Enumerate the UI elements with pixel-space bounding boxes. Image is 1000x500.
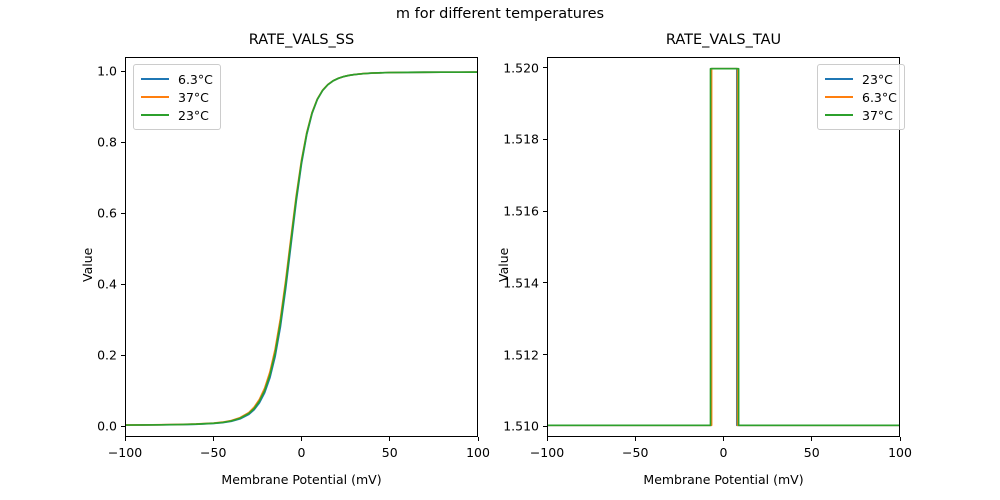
ytick-mark <box>121 142 125 143</box>
legend-entry-6.3°C[interactable]: 6.3°C <box>141 70 213 88</box>
ytick-mark <box>543 426 547 427</box>
legend-line-swatch <box>825 78 853 80</box>
xtick-label: −100 <box>530 445 564 460</box>
xtick-label: −50 <box>200 445 226 460</box>
xtick-mark <box>213 437 214 441</box>
ylabel-right: Value <box>496 248 511 282</box>
legend-label: 37°C <box>862 108 893 123</box>
subplot-title-left: RATE_VALS_SS <box>125 32 478 48</box>
ytick-mark <box>543 139 547 140</box>
xtick-label: 100 <box>888 445 912 460</box>
legend-entry-37°C[interactable]: 37°C <box>825 106 897 124</box>
ytick-label: 1.514 <box>429 275 539 290</box>
ytick-label: 1.516 <box>429 204 539 219</box>
ytick-mark <box>543 354 547 355</box>
ytick-label: 0.4 <box>7 277 117 292</box>
subplot-title-right: RATE_VALS_TAU <box>547 32 900 48</box>
xtick-mark <box>635 437 636 441</box>
legend-entry-37°C[interactable]: 37°C <box>141 88 213 106</box>
figure-suptitle: m for different temperatures <box>0 6 1000 22</box>
legend-line-swatch <box>825 114 853 116</box>
legend-label: 23°C <box>178 108 209 123</box>
legend-label: 37°C <box>178 90 209 105</box>
ytick-label: 1.0 <box>7 64 117 79</box>
ylabel-left: Value <box>80 248 95 282</box>
xtick-label: −50 <box>622 445 648 460</box>
ytick-mark <box>121 71 125 72</box>
xtick-mark <box>301 437 302 441</box>
legend-label: 23°C <box>862 72 893 87</box>
xtick-mark <box>478 437 479 441</box>
ytick-mark <box>121 355 125 356</box>
ytick-mark <box>121 426 125 427</box>
xtick-label: 100 <box>466 445 490 460</box>
ytick-mark <box>543 282 547 283</box>
xtick-label: 0 <box>298 445 306 460</box>
xtick-label: 50 <box>804 445 820 460</box>
ytick-label: 1.518 <box>429 132 539 147</box>
legend-entry-23°C[interactable]: 23°C <box>141 106 213 124</box>
xtick-label: 50 <box>382 445 398 460</box>
ytick-label: 0.8 <box>7 135 117 150</box>
ytick-mark <box>121 284 125 285</box>
ytick-label: 0.2 <box>7 348 117 363</box>
legend-line-swatch <box>141 78 169 80</box>
legend-line-swatch <box>825 96 853 98</box>
ytick-label: 0.6 <box>7 206 117 221</box>
legend-entry-23°C[interactable]: 23°C <box>825 70 897 88</box>
xtick-label: 0 <box>720 445 728 460</box>
legend-label: 6.3°C <box>178 72 213 87</box>
ytick-label: 0.0 <box>7 419 117 434</box>
xtick-mark <box>900 437 901 441</box>
xtick-mark <box>811 437 812 441</box>
legend-rate-vals-tau[interactable]: 23°C6.3°C37°C <box>817 64 905 130</box>
xtick-label: −100 <box>108 445 142 460</box>
xlabel-right: Membrane Potential (mV) <box>547 472 900 487</box>
ytick-mark <box>543 67 547 68</box>
ytick-label: 1.512 <box>429 347 539 362</box>
xtick-mark <box>547 437 548 441</box>
xtick-mark <box>125 437 126 441</box>
xtick-mark <box>389 437 390 441</box>
legend-entry-6.3°C[interactable]: 6.3°C <box>825 88 897 106</box>
matplotlib-figure: m for different temperatures RATE_VALS_S… <box>0 0 1000 500</box>
ytick-label: 1.520 <box>429 60 539 75</box>
xlabel-left: Membrane Potential (mV) <box>125 472 478 487</box>
ytick-mark <box>121 213 125 214</box>
legend-rate-vals-ss[interactable]: 6.3°C37°C23°C <box>133 64 221 130</box>
legend-label: 6.3°C <box>862 90 897 105</box>
xtick-mark <box>723 437 724 441</box>
ytick-label: 1.510 <box>429 419 539 434</box>
ytick-mark <box>543 211 547 212</box>
legend-line-swatch <box>141 96 169 98</box>
legend-line-swatch <box>141 114 169 116</box>
